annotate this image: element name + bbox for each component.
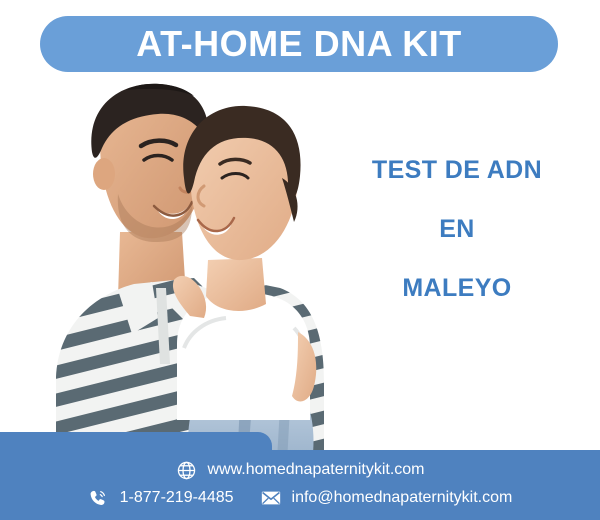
headline-line-1: TEST DE ADN: [322, 158, 592, 183]
phone-icon: [88, 487, 110, 509]
family-photo: [0, 82, 324, 460]
headline-block: TEST DE ADN EN MALEYO: [322, 158, 592, 301]
contact-phone[interactable]: 1-877-219-4485: [88, 487, 234, 509]
family-photo-illustration: [0, 82, 324, 460]
headline-line-2: EN: [322, 217, 592, 242]
contact-email[interactable]: info@homednapaternitykit.com: [260, 487, 513, 509]
footer-contact-bar: www.homednapaternitykit.com 1-877-219-44…: [0, 450, 600, 520]
contact-website[interactable]: www.homednapaternitykit.com: [176, 459, 425, 481]
footer-left-lobe: [0, 432, 272, 450]
headline-line-3: MALEYO: [322, 276, 592, 301]
footer-row-phone-email: 1-877-219-4485 info@homednapaternitykit.…: [0, 487, 600, 509]
header-pill: AT-HOME DNA KIT: [40, 16, 558, 72]
envelope-icon: [260, 487, 282, 509]
globe-icon: [176, 459, 198, 481]
page-title: AT-HOME DNA KIT: [136, 26, 461, 62]
footer-row-website: www.homednapaternitykit.com: [0, 459, 600, 481]
phone-number: 1-877-219-4485: [120, 490, 234, 506]
website-url: www.homednapaternitykit.com: [208, 462, 425, 478]
dna-kit-banner: AT-HOME DNA KIT: [0, 0, 600, 520]
toddler-figure: [173, 106, 316, 460]
email-address: info@homednapaternitykit.com: [292, 490, 513, 506]
